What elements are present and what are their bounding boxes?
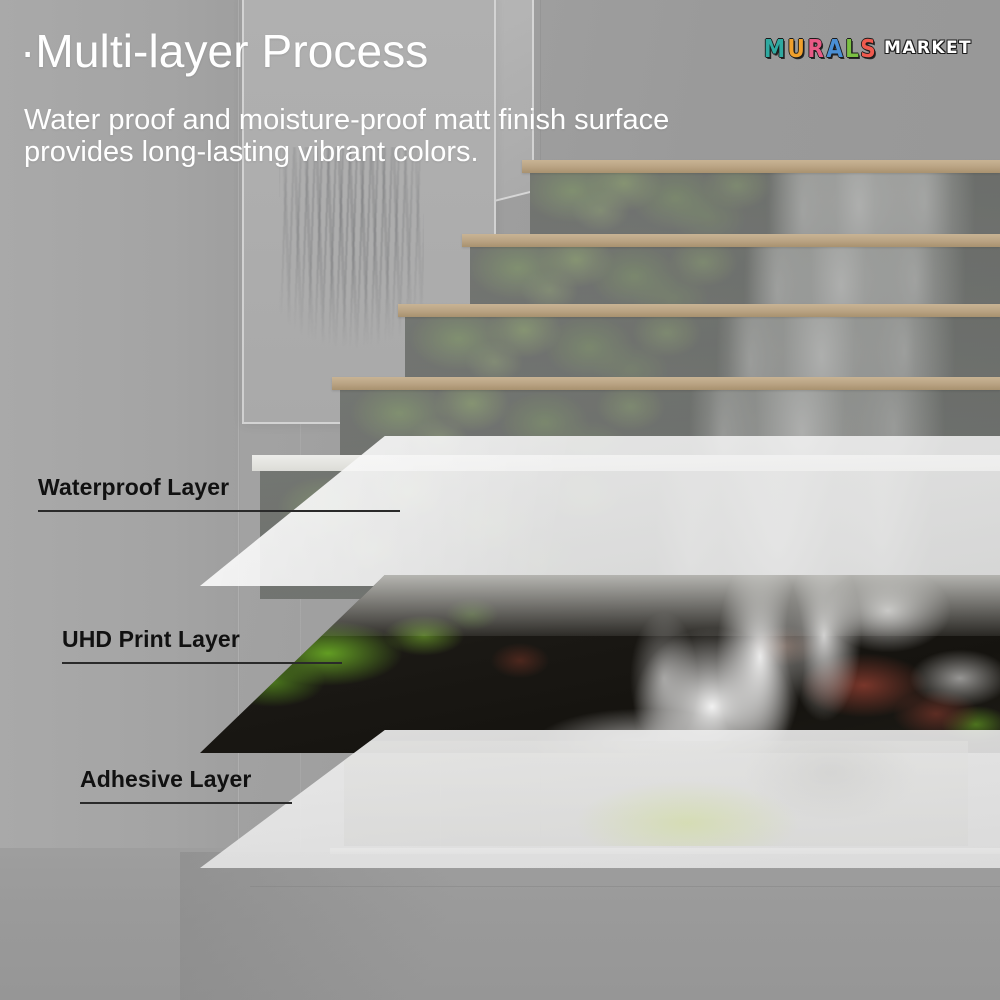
layer-label-underline — [38, 510, 400, 512]
subtitle-line-2: provides long-lasting vibrant colors. — [24, 136, 669, 168]
page-title: ·Multi-layer Process — [20, 24, 428, 78]
stair-nosing — [462, 234, 1000, 247]
layer-label-adhesive: Adhesive Layer — [80, 766, 292, 804]
layer-label-uhd-print: UHD Print Layer — [62, 626, 342, 664]
stair-nosing — [332, 377, 1000, 390]
page-subtitle: Water proof and moisture-proof matt fini… — [24, 104, 669, 169]
layer-label-underline — [80, 802, 292, 804]
layer-label-text: Adhesive Layer — [80, 766, 292, 793]
riser-mural-veil — [530, 172, 1000, 234]
brand-logo-letter-r-2: R — [807, 36, 823, 61]
brand-logo-primary: MURALS — [762, 36, 877, 61]
layer-label-text: Waterproof Layer — [38, 474, 400, 501]
brand-logo-letter-l-4: L — [845, 36, 858, 61]
brand-logo-letter-s-5: S — [861, 36, 876, 61]
brand-logo-letter-u-1: U — [788, 36, 805, 61]
stair-nosing — [398, 304, 1000, 317]
layer-label-text: UHD Print Layer — [62, 626, 342, 653]
poster-canvas: Waterproof Layer UHD Print Layer Adhesiv… — [0, 0, 1000, 1000]
subtitle-line-1: Water proof and moisture-proof matt fini… — [24, 104, 669, 136]
brand-logo-secondary: MARKET — [884, 40, 972, 57]
brand-logo[interactable]: MURALS MARKET — [762, 32, 972, 64]
layer-label-underline — [62, 662, 342, 664]
stair-riser — [530, 172, 1000, 234]
layer-label-waterproof: Waterproof Layer — [38, 474, 400, 512]
floor-shadow — [180, 852, 600, 1000]
brand-logo-letter-a-3: A — [826, 36, 842, 61]
brand-logo-letter-m-0: M — [763, 36, 784, 61]
adhesive-inner-sheet — [344, 741, 968, 846]
